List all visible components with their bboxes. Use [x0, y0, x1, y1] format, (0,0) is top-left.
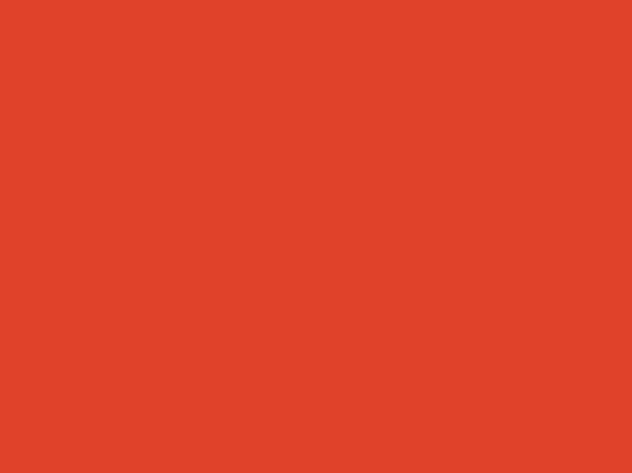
caption-line-1: 勇士主场加时险胜凯尔特人塔图姆	[83, 124, 549, 174]
screenshot-root: 勇士主场加时险胜凯尔特人塔图姆 关键球失手库里砍下43分	[0, 0, 632, 473]
scoreboard-secondary	[586, 188, 605, 205]
spectator-shoulder	[552, 291, 626, 466]
jersey-red-panel	[6, 404, 114, 466]
caption-line-2: 关键球失手库里砍下43分	[83, 174, 549, 224]
spotify-app-tile[interactable]	[11, 11, 77, 77]
pitch-centre-emblem	[384, 241, 460, 266]
floodlight-pole	[425, 222, 428, 443]
spotify-icon[interactable]	[22, 22, 66, 66]
caption-banner: 勇士主场加时险胜凯尔特人塔图姆 关键球失手库里砍下43分	[67, 105, 566, 243]
jersey-league-patch	[14, 362, 58, 395]
cloud-wisp	[266, 15, 514, 47]
supporter-scarf	[402, 435, 503, 466]
ear	[296, 377, 322, 430]
